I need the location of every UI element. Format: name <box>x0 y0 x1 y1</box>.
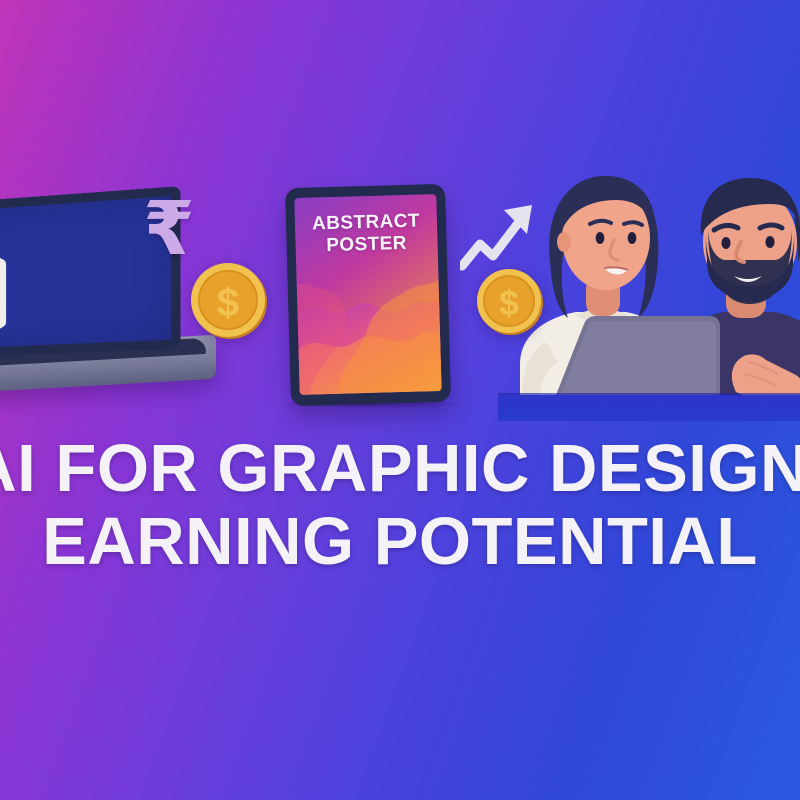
coin-dollar-glyph: $ <box>217 281 239 325</box>
desk-surface <box>498 395 800 421</box>
page-title: AI FOR GRAPHIC DESIGN: EARNING POTENTIAL <box>0 432 800 578</box>
ai-hexagon-icon: AI <box>0 223 17 360</box>
promo-banner: AI ₹ $ <box>0 0 800 800</box>
poster-caption: ABSTRACT POSTER <box>286 210 447 258</box>
title-line-1: AI FOR GRAPHIC DESIGN: <box>0 432 800 505</box>
rupee-currency-icon: ₹ <box>138 192 200 268</box>
poster-caption-line2: POSTER <box>286 232 447 258</box>
gold-coin-right: $ <box>473 265 545 337</box>
title-line-2: EARNING POTENTIAL <box>0 505 800 578</box>
gold-coin-left: $ <box>186 258 270 342</box>
coin-dollar-glyph: $ <box>499 284 518 323</box>
tablet-abstract-poster: ABSTRACT POSTER <box>285 184 451 406</box>
